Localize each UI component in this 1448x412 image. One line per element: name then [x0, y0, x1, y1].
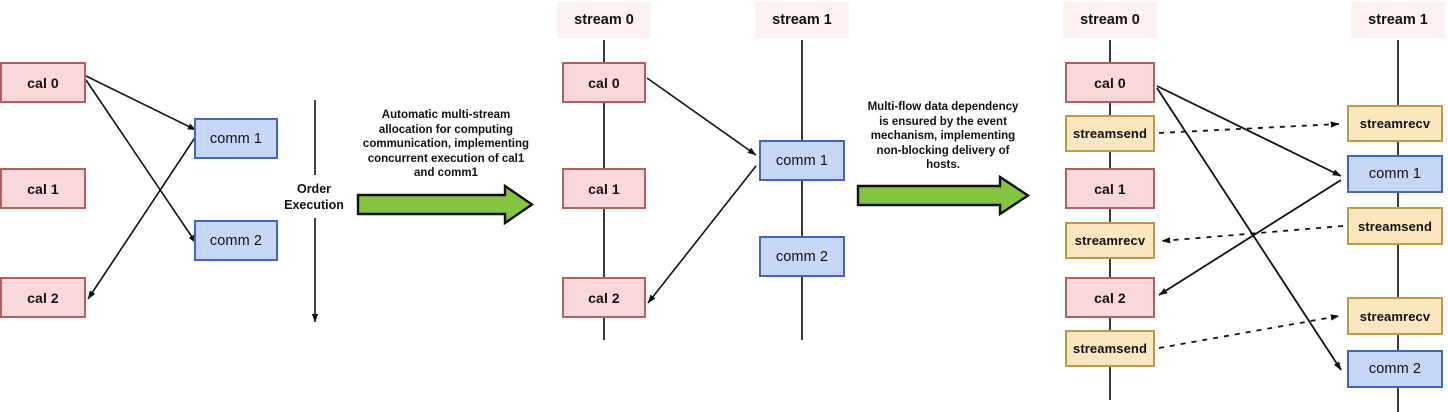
node-label: comm 2	[210, 233, 262, 249]
panel1-comm-1[interactable]: comm 1	[194, 118, 278, 159]
panel3-event-arrows	[1159, 124, 1343, 348]
panel2-stream0-cal-2[interactable]: cal 2	[562, 277, 646, 318]
caption-line: hosts.	[858, 158, 1028, 173]
arrow-event-send0-to-recv1	[1159, 124, 1339, 133]
panel1-dependency-arrows	[86, 76, 196, 299]
node-label: comm 2	[776, 249, 828, 265]
arrow-p3-cal0-to-comm2	[1157, 88, 1341, 370]
node-label: streamrecv	[1075, 233, 1145, 248]
panel3-stream0-streamsend-2[interactable]: streamsend	[1065, 330, 1155, 367]
node-label: cal 1	[588, 181, 620, 197]
panel2-stream1-header: stream 1	[755, 2, 849, 38]
caption-line: mechanism, implementing	[858, 129, 1028, 144]
node-label: comm 1	[776, 153, 828, 169]
transition-arrow-2	[858, 177, 1028, 214]
node-label: comm 2	[1369, 361, 1421, 377]
stream-header-label: stream 1	[1368, 12, 1428, 28]
panel3-stream1-comm-1[interactable]: comm 1	[1347, 155, 1443, 193]
order-execution-label-line2: Execution	[275, 197, 353, 213]
panel3-stream0-cal-0[interactable]: cal 0	[1065, 62, 1155, 103]
transition-arrow-1	[358, 186, 532, 223]
node-label: cal 0	[1094, 75, 1126, 91]
arrow-cal0-to-comm2	[86, 80, 196, 243]
arrow-p2-cal0-to-comm1	[647, 78, 756, 155]
panel3-stream1-header: stream 1	[1351, 2, 1445, 38]
node-label: streamrecv	[1360, 116, 1430, 131]
stream-header-label: stream 1	[772, 12, 832, 28]
caption-line: non-blocking delivery of	[858, 144, 1028, 159]
node-label: streamsend	[1073, 126, 1147, 141]
panel1-cal-2[interactable]: cal 2	[0, 277, 86, 318]
panel2-stream0-header: stream 0	[557, 2, 651, 38]
node-label: cal 0	[588, 75, 620, 91]
caption-line: Multi-flow data dependency	[858, 100, 1028, 115]
node-label: cal 2	[1094, 290, 1126, 306]
diagram-canvas: cal 0 cal 1 cal 2 comm 1 comm 2 Order Ex…	[0, 0, 1448, 412]
caption-line: allocation for computing	[358, 123, 534, 138]
order-execution-label-line1: Order	[275, 181, 353, 197]
node-label: cal 1	[27, 181, 59, 197]
node-label: comm 1	[210, 131, 262, 147]
caption-line: concurrent execution of cal1	[358, 152, 534, 167]
panel3-stream0-cal-2[interactable]: cal 2	[1065, 277, 1155, 318]
panel3-stream1-comm-2[interactable]: comm 2	[1347, 350, 1443, 388]
node-label: cal 2	[588, 290, 620, 306]
connector-layer	[0, 0, 1448, 412]
panel2-stream1-comm-1[interactable]: comm 1	[759, 140, 845, 181]
arrow-event-send1-to-recv0	[1162, 226, 1343, 241]
panel3-stream0-streamsend-1[interactable]: streamsend	[1065, 115, 1155, 152]
node-label: streamsend	[1073, 341, 1147, 356]
panel2-stream1-comm-2[interactable]: comm 2	[759, 236, 845, 277]
node-label: cal 2	[27, 290, 59, 306]
panel3-stream0-header: stream 0	[1063, 2, 1157, 38]
stream-header-label: stream 0	[1080, 12, 1140, 28]
arrow-comm1-to-cal2	[88, 136, 196, 299]
caption-line: is ensured by the event	[858, 115, 1028, 130]
transition-1-caption: Automatic multi-stream allocation for co…	[358, 108, 534, 181]
caption-line: and comm1	[358, 166, 534, 181]
panel3-stream0-cal-1[interactable]: cal 1	[1065, 168, 1155, 209]
transition-2-caption: Multi-flow data dependency is ensured by…	[858, 100, 1028, 173]
node-label: streamrecv	[1360, 309, 1430, 324]
panel1-comm-2[interactable]: comm 2	[194, 220, 278, 261]
arrow-event-send0b-to-recv1b	[1159, 316, 1339, 348]
caption-line: Automatic multi-stream	[358, 108, 534, 123]
arrow-p3-cal0-to-comm1	[1157, 86, 1341, 176]
panel1-cal-1[interactable]: cal 1	[0, 168, 86, 209]
panel3-dependency-arrows	[1157, 86, 1341, 370]
stream-header-label: stream 0	[574, 12, 634, 28]
arrow-p3-comm1-to-cal2	[1159, 180, 1341, 295]
panel1-cal-0[interactable]: cal 0	[0, 62, 86, 103]
panel2-stream0-cal-0[interactable]: cal 0	[562, 62, 646, 103]
panel3-stream1-streamrecv-2[interactable]: streamrecv	[1347, 297, 1443, 335]
order-execution-label: Order Execution	[275, 181, 353, 213]
panel3-stream1-streamrecv-1[interactable]: streamrecv	[1347, 105, 1443, 142]
panel3-stream0-streamrecv-1[interactable]: streamrecv	[1065, 222, 1155, 259]
node-label: cal 1	[1094, 181, 1126, 197]
node-label: streamsend	[1358, 219, 1432, 234]
panel3-stream1-streamsend-1[interactable]: streamsend	[1347, 207, 1443, 245]
panel2-dependency-arrows	[647, 78, 756, 303]
node-label: cal 0	[27, 75, 59, 91]
caption-line: communication, implementing	[358, 137, 534, 152]
arrow-cal0-to-comm1	[86, 76, 196, 130]
arrow-p2-comm1-to-cal2	[648, 166, 756, 303]
node-label: comm 1	[1369, 166, 1421, 182]
panel2-stream0-cal-1[interactable]: cal 1	[562, 168, 646, 209]
